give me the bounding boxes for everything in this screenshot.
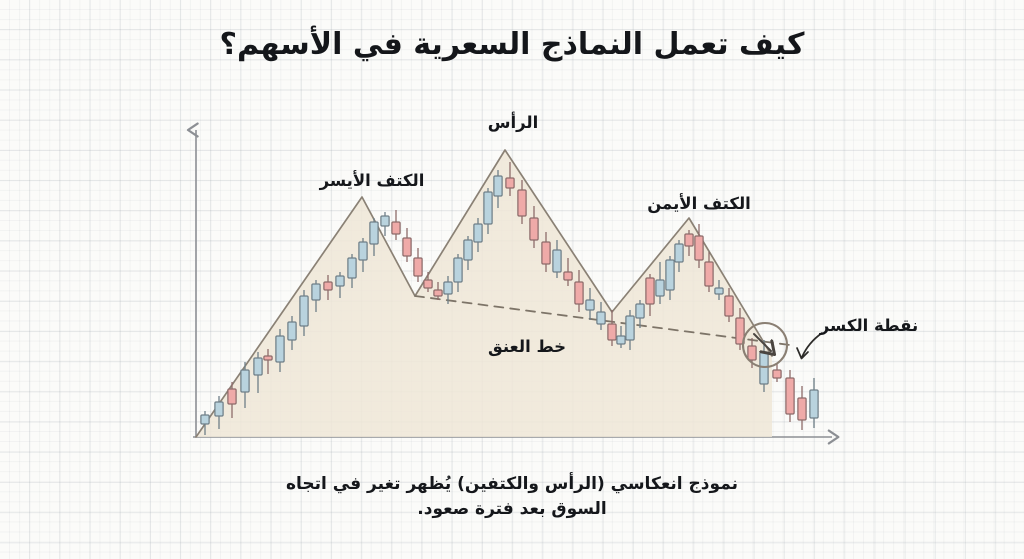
candle-body-up [715, 288, 723, 294]
candle-body-down [748, 346, 756, 360]
candle-body-down [434, 290, 442, 296]
infographic-canvas: كيف تعمل النماذج السعرية في الأسهم؟ [0, 0, 1024, 559]
candle-body-down [264, 356, 272, 360]
candle-body-up [617, 336, 625, 344]
candle-body-up [288, 322, 296, 340]
candle-body-up [336, 276, 344, 286]
candle-body-up [312, 284, 320, 300]
candle-body-down [518, 190, 526, 216]
candle-body-down [773, 370, 781, 378]
candle-body-up [201, 415, 209, 424]
figure-caption: نموذج انعكاسي (الرأس والكتفين) يُظهر تغي… [277, 472, 747, 521]
candle-body-down [798, 398, 806, 420]
candle-body-down [705, 262, 713, 286]
candle-body-down [608, 324, 616, 340]
candle-body-down [324, 282, 332, 290]
candle-body-down [564, 272, 572, 280]
candle-body-up [597, 312, 605, 324]
candle-body-down [695, 236, 703, 260]
candle-body-up [474, 224, 482, 242]
candle-body-up [464, 240, 472, 260]
candle-body-down [403, 238, 411, 256]
candle-body-up [484, 192, 492, 224]
candle-body-up [370, 222, 378, 244]
candle-body-down [392, 222, 400, 234]
candle-body-up [300, 296, 308, 326]
candle-body-down [424, 280, 432, 288]
candle-body-up [494, 176, 502, 196]
candle-body-down [786, 378, 794, 414]
candle-body-up [241, 370, 249, 392]
candle-body-up [810, 390, 818, 418]
candle-body-up [586, 300, 594, 310]
annotation-break-point: نقطة الكسر [819, 316, 918, 336]
candle-body-up [381, 216, 389, 226]
candle-body-down [530, 218, 538, 240]
break-point-callout-arrow-icon [802, 333, 822, 357]
annotation-head: الرأس [488, 112, 539, 133]
candle-body-up [254, 358, 262, 375]
candle-body-down [228, 389, 236, 404]
candle-body-down [725, 296, 733, 316]
candle-body-down [575, 282, 583, 304]
annotation-right-shoulder: الكتف الأيمن [647, 193, 751, 214]
candle-body-down [685, 234, 693, 246]
candle-body-up [276, 336, 284, 362]
candle-body-down [506, 178, 514, 188]
candle-body-up [359, 242, 367, 260]
candle-body-up [656, 280, 664, 296]
candle-body-down [646, 278, 654, 304]
candle-body-up [666, 260, 674, 290]
candle-body-up [454, 258, 462, 282]
candle-body-up [348, 258, 356, 278]
annotation-left-shoulder: الكتف الأيسر [319, 170, 425, 191]
candle-body-down [414, 258, 422, 276]
candle-body-up [626, 316, 634, 340]
candle-body-down [542, 242, 550, 264]
candle-body-up [675, 244, 683, 262]
candle-body-up [553, 250, 561, 272]
candle-body-up [636, 304, 644, 318]
candle-body-up [444, 282, 452, 294]
candle-body-up [215, 402, 223, 416]
annotation-neckline: خط العنق [488, 337, 566, 357]
